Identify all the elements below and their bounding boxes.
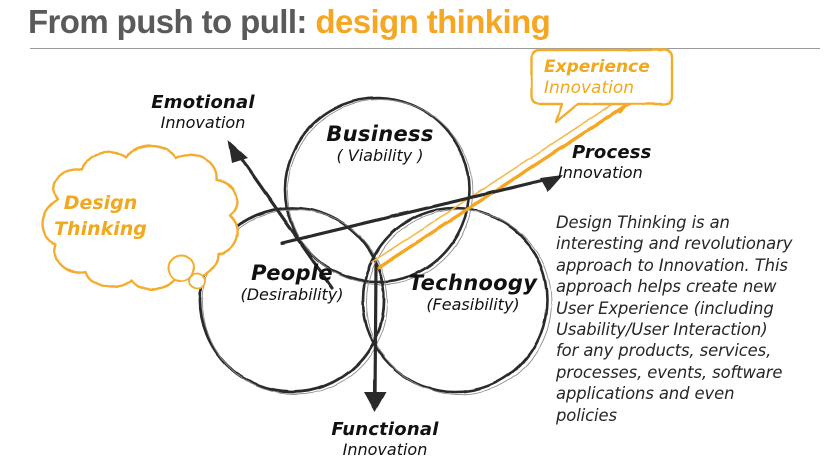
- experience-callout-text: Experience Innovation: [544, 56, 674, 99]
- paragraph-line: approach to Innovation. This: [556, 255, 840, 276]
- arrow-emotional-line1: Emotional: [128, 92, 278, 113]
- circle-label-people: People (Desirability): [212, 262, 372, 304]
- cloud-line-2: Thinking: [28, 216, 173, 242]
- arrow-label-functional: Functional Innovation: [300, 419, 470, 459]
- paragraph-line: interesting and revolutionary: [556, 233, 840, 254]
- paragraph-line: approach helps create new: [556, 276, 840, 297]
- circle-technology-subtitle: (Feasibility): [388, 295, 558, 314]
- circle-technology-title: Technoogy: [388, 272, 558, 295]
- paragraph-line: policies: [556, 405, 840, 426]
- arrow-process-line2: Innovation: [558, 163, 708, 182]
- callout-line-1: Experience: [544, 56, 674, 78]
- paragraph-line: applications and even: [556, 383, 840, 404]
- paragraph-line: for any products, services,: [556, 340, 840, 361]
- circle-label-technology: Technoogy (Feasibility): [388, 272, 558, 314]
- paragraph-line: User Experience (including: [556, 298, 840, 319]
- circle-people-title: People: [212, 262, 372, 285]
- arrow-label-emotional: Emotional Innovation: [128, 92, 278, 132]
- paragraph-line: processes, events, software: [556, 362, 840, 383]
- slide-canvas: From push to pull: design thinking: [0, 0, 840, 470]
- arrow-process-line1: Process: [558, 142, 708, 163]
- cloud-line-1: Design: [28, 190, 173, 216]
- circle-people-subtitle: (Desirability): [212, 285, 372, 304]
- paragraph-line: Usability/User Interaction): [556, 319, 840, 340]
- circle-label-business: Business ( Viability ): [300, 123, 460, 165]
- arrow-functional-line2: Innovation: [300, 440, 470, 459]
- description-paragraph: Design Thinking is an interesting and re…: [556, 212, 840, 426]
- design-thinking-cloud-text: Design Thinking: [28, 190, 173, 242]
- arrow-emotional-line2: Innovation: [128, 113, 278, 132]
- arrow-functional-line1: Functional: [300, 419, 470, 440]
- circle-business-title: Business: [300, 123, 460, 146]
- cloud-tail-bubble-small: [190, 274, 205, 289]
- paragraph-line: Design Thinking is an: [556, 212, 840, 233]
- callout-line-2: Innovation: [544, 78, 674, 99]
- circle-business-subtitle: ( Viability ): [300, 146, 460, 165]
- arrow-label-process: Process Innovation: [558, 142, 708, 182]
